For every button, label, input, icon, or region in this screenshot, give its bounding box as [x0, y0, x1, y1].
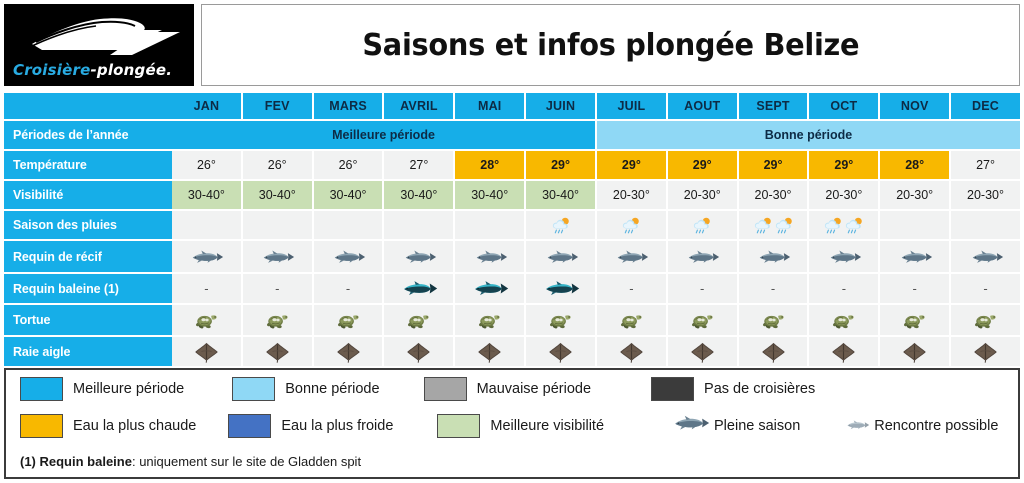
eagle-ray-icon — [902, 341, 927, 363]
rain-cloud-icon — [551, 216, 571, 235]
absent-mark: - — [842, 286, 846, 292]
month-header-aout: AOUT — [668, 93, 737, 119]
whale-shark-cell-juil: - — [597, 274, 666, 303]
row-label-reef-shark: Requin de récif — [4, 241, 172, 272]
temperature-cell-avril: 27° — [384, 151, 453, 179]
whale-shark-cell-mai — [455, 274, 524, 303]
shark-icon — [472, 250, 508, 264]
legend-item: Mauvaise période — [424, 377, 591, 401]
legend-row-1: Meilleure périodeBonne périodeMauvaise p… — [6, 370, 1018, 407]
whale-shark-cell-avril — [384, 274, 453, 303]
whale-shark-cell-sept: - — [739, 274, 808, 303]
whale-shark-cell-aout: - — [668, 274, 737, 303]
eagle-ray-cell-fev — [243, 337, 312, 366]
rain-cloud-icon — [844, 216, 864, 235]
eagle-ray-icon — [477, 341, 502, 363]
visibility-cell-jan: 30-40° — [172, 181, 241, 209]
row-label-rain: Saison des pluies — [4, 211, 172, 239]
absent-mark: - — [771, 286, 775, 292]
shark-icon — [401, 250, 437, 264]
rain-cell-jan — [172, 211, 241, 239]
whale-shark-cells: --- ------ — [172, 274, 1020, 303]
rain-cells — [172, 211, 1020, 239]
eagle-ray-icon — [973, 341, 998, 363]
month-header-oct: OCT — [809, 93, 878, 119]
month-header-jan: JAN — [172, 93, 241, 119]
month-header-mars: MARS — [314, 93, 383, 119]
turtle-icon — [691, 311, 714, 330]
eagle-ray-icon — [831, 341, 856, 363]
visibility-cell-avril: 30-40° — [384, 181, 453, 209]
row-label-visibility: Visibilité — [4, 181, 172, 209]
legend-item: Eau la plus froide — [228, 414, 393, 438]
rain-cloud-icon — [692, 216, 712, 235]
turtle-cell-sept — [739, 305, 808, 335]
turtle-cell-mars — [314, 305, 383, 335]
rain-cell-avril — [384, 211, 453, 239]
legend-item: Eau la plus chaude — [20, 414, 196, 438]
reef-shark-cell-dec — [951, 241, 1020, 272]
month-header-juil: JUIL — [597, 93, 666, 119]
rain-cloud-icon — [774, 216, 794, 235]
eagle-ray-icon — [619, 341, 644, 363]
swatch-warmest-water — [20, 414, 63, 438]
swatch-best-visibility — [437, 414, 480, 438]
legend: Meilleure périodeBonne périodeMauvaise p… — [4, 368, 1020, 479]
month-header-mai: MAI — [455, 93, 524, 119]
reef-shark-cells — [172, 241, 1020, 272]
legend-row-2: Eau la plus chaudeEau la plus froideMeil… — [6, 407, 1018, 444]
reef-shark-cell-juil — [597, 241, 666, 272]
shark-icon — [259, 250, 295, 264]
absent-mark: - — [629, 286, 633, 292]
title-box: Saisons et infos plongée Belize — [201, 4, 1020, 86]
visibility-cell-mars: 30-40° — [314, 181, 383, 209]
month-header-juin: JUIN — [526, 93, 595, 119]
legend-label: Eau la plus chaude — [73, 418, 196, 434]
shark-icon — [670, 415, 710, 431]
table-row-periods: Périodes de l’année Meilleure périodeBon… — [4, 121, 1020, 149]
turtle-cell-avril — [384, 305, 453, 335]
table-row-turtle: Tortue — [4, 305, 1020, 335]
whale-shark-icon — [471, 281, 509, 296]
turtle-icon — [337, 311, 360, 330]
legend-label: Meilleure visibilité — [490, 418, 604, 434]
rain-cell-sept — [739, 211, 808, 239]
turtle-icon — [903, 311, 926, 330]
month-header-nov: NOV — [880, 93, 949, 119]
table-row-reef-shark: Requin de récif — [4, 241, 1020, 272]
row-label-periods: Périodes de l’année — [4, 121, 172, 149]
eagle-ray-cells — [172, 337, 1020, 366]
infographic-page: Croisière-plongée. Saisons et infos plon… — [0, 0, 1024, 483]
visibility-cell-juin: 30-40° — [526, 181, 595, 209]
row-label-temperature: Température — [4, 151, 172, 179]
legend-item: Meilleure visibilité — [437, 414, 604, 438]
absent-mark: - — [700, 286, 704, 292]
eagle-ray-icon — [265, 341, 290, 363]
whale-shark-cell-fev: - — [243, 274, 312, 303]
eagle-ray-cell-mars — [314, 337, 383, 366]
eagle-ray-icon — [761, 341, 786, 363]
temperature-cell-oct: 29° — [809, 151, 878, 179]
absent-mark: - — [346, 286, 350, 292]
shark-icon — [755, 250, 791, 264]
visibility-cell-fev: 30-40° — [243, 181, 312, 209]
eagle-ray-cell-aout — [668, 337, 737, 366]
turtle-icon — [478, 311, 501, 330]
table-row-rain: Saison des pluies — [4, 211, 1020, 239]
turtle-cell-nov — [880, 305, 949, 335]
legend-item: Bonne période — [232, 377, 379, 401]
temperature-cell-juin: 29° — [526, 151, 595, 179]
shark-icon — [330, 250, 366, 264]
page-title: Saisons et infos plongée Belize — [362, 28, 859, 63]
reef-shark-cell-sept — [739, 241, 808, 272]
reef-shark-cell-fev — [243, 241, 312, 272]
period-span-best: Meilleure période — [172, 121, 595, 149]
rain-cell-juin — [526, 211, 595, 239]
month-header-sept: SEPT — [739, 93, 808, 119]
eagle-ray-cell-jan — [172, 337, 241, 366]
footnote-bold: (1) Requin baleine — [20, 454, 132, 469]
temperature-cell-mai: 28° — [455, 151, 524, 179]
period-span-good: Bonne période — [597, 121, 1020, 149]
whale-shark-cell-jan: - — [172, 274, 241, 303]
visibility-cells: 30-40°30-40°30-40°30-40°30-40°30-40°20-3… — [172, 181, 1020, 209]
eagle-ray-icon — [336, 341, 361, 363]
visibility-cell-juil: 20-30° — [597, 181, 666, 209]
shark-icon — [543, 250, 579, 264]
month-header-fev: FEV — [243, 93, 312, 119]
shark-icon — [684, 250, 720, 264]
absent-mark: - — [275, 286, 279, 292]
legend-label: Pas de croisières — [704, 381, 815, 397]
eagle-ray-cell-mai — [455, 337, 524, 366]
temperature-cell-nov: 28° — [880, 151, 949, 179]
reef-shark-cell-aout — [668, 241, 737, 272]
legend-footnote: (1) Requin baleine : uniquement sur le s… — [6, 444, 1018, 478]
rain-cell-oct — [809, 211, 878, 239]
turtle-cell-fev — [243, 305, 312, 335]
swatch-coldest-water — [228, 414, 271, 438]
shark-icon — [613, 250, 649, 264]
shark-icon — [826, 250, 862, 264]
row-label-eagle-ray: Raie aigle — [4, 337, 172, 366]
eagle-ray-cell-nov — [880, 337, 949, 366]
shark-icon — [844, 420, 870, 430]
visibility-cell-dec: 20-30° — [951, 181, 1020, 209]
rain-cell-nov — [880, 211, 949, 239]
legend-label: Eau la plus froide — [281, 418, 393, 434]
rain-cell-fev — [243, 211, 312, 239]
eagle-ray-cell-sept — [739, 337, 808, 366]
turtle-icon — [266, 311, 289, 330]
table-row-eagle-ray: Raie aigle — [4, 337, 1020, 366]
swatch-no-cruises — [651, 377, 694, 401]
turtle-cell-oct — [809, 305, 878, 335]
visibility-cell-mai: 30-40° — [455, 181, 524, 209]
legend-label: Mauvaise période — [477, 381, 591, 397]
eagle-ray-cell-oct — [809, 337, 878, 366]
reef-shark-cell-jan — [172, 241, 241, 272]
footnote-rest: : uniquement sur le site de Gladden spit — [132, 454, 361, 469]
absent-mark: - — [913, 286, 917, 292]
reef-shark-cell-oct — [809, 241, 878, 272]
reef-shark-cell-avril — [384, 241, 453, 272]
swatch-bad-period — [424, 377, 467, 401]
whale-shark-icon — [400, 281, 438, 296]
shark-icon-small — [844, 417, 870, 435]
legend-item: Meilleure période — [20, 377, 184, 401]
table-row-visibility: Visibilité 30-40°30-40°30-40°30-40°30-40… — [4, 181, 1020, 209]
rain-cell-mai — [455, 211, 524, 239]
visibility-cell-aout: 20-30° — [668, 181, 737, 209]
turtle-icon — [549, 311, 572, 330]
temperature-cells: 26°26°26°27°28°29°29°29°29°29°28°27° — [172, 151, 1020, 179]
header-corner — [4, 93, 172, 119]
whale-shark-cell-oct: - — [809, 274, 878, 303]
logo-wordmark: Croisière-plongée. — [13, 61, 172, 79]
seasons-table: JANFEVMARSAVRILMAIJUINJUILAOUTSEPTOCTNOV… — [4, 93, 1020, 366]
rain-cloud-icon — [753, 216, 773, 235]
turtle-icon — [195, 311, 218, 330]
eagle-ray-cell-juil — [597, 337, 666, 366]
temperature-cell-juil: 29° — [597, 151, 666, 179]
legend-icon-item: Pleine saison — [670, 415, 800, 436]
eagle-ray-cell-dec — [951, 337, 1020, 366]
swatch-best-period — [20, 377, 63, 401]
temperature-cell-dec: 27° — [951, 151, 1020, 179]
table-header-row: JANFEVMARSAVRILMAIJUINJUILAOUTSEPTOCTNOV… — [4, 93, 1020, 119]
temperature-cell-aout: 29° — [668, 151, 737, 179]
legend-label: Pleine saison — [714, 418, 800, 434]
rain-cell-mars — [314, 211, 383, 239]
month-header-dec: DEC — [951, 93, 1020, 119]
shark-icon-large — [670, 415, 710, 436]
rain-cloud-icon — [823, 216, 843, 235]
turtle-icon — [762, 311, 785, 330]
visibility-cell-nov: 20-30° — [880, 181, 949, 209]
logo-text-croisiere: Croisière — [13, 61, 90, 79]
temperature-cell-jan: 26° — [172, 151, 241, 179]
legend-label: Bonne période — [285, 381, 379, 397]
whale-shark-cell-dec: - — [951, 274, 1020, 303]
turtle-cell-aout — [668, 305, 737, 335]
legend-label: Meilleure période — [73, 381, 184, 397]
eagle-ray-icon — [548, 341, 573, 363]
turtle-cell-jan — [172, 305, 241, 335]
boat-icon — [12, 10, 188, 58]
legend-icon-item: Rencontre possible — [844, 417, 998, 435]
whale-shark-cell-nov: - — [880, 274, 949, 303]
shark-icon — [188, 250, 224, 264]
legend-label: Rencontre possible — [874, 418, 998, 434]
reef-shark-cell-nov — [880, 241, 949, 272]
temperature-cell-mars: 26° — [314, 151, 383, 179]
turtle-icon — [832, 311, 855, 330]
reef-shark-cell-mars — [314, 241, 383, 272]
rain-cloud-icon — [621, 216, 641, 235]
table-row-whale-shark: Requin baleine (1) --- ------ — [4, 274, 1020, 303]
table-row-temperature: Température 26°26°26°27°28°29°29°29°29°2… — [4, 151, 1020, 179]
reef-shark-cell-juin — [526, 241, 595, 272]
rain-cell-aout — [668, 211, 737, 239]
eagle-ray-icon — [690, 341, 715, 363]
temperature-cell-sept: 29° — [739, 151, 808, 179]
row-label-whale-shark: Requin baleine (1) — [4, 274, 172, 303]
turtle-cells — [172, 305, 1020, 335]
row-label-turtle: Tortue — [4, 305, 172, 335]
logo-text-plongee: -plongée. — [90, 61, 172, 79]
whale-shark-cell-mars: - — [314, 274, 383, 303]
legend-item: Pas de croisières — [651, 377, 815, 401]
turtle-icon — [620, 311, 643, 330]
month-header-cells: JANFEVMARSAVRILMAIJUINJUILAOUTSEPTOCTNOV… — [172, 93, 1020, 119]
header: Croisière-plongée. Saisons et infos plon… — [0, 0, 1024, 88]
eagle-ray-icon — [194, 341, 219, 363]
shark-icon — [897, 250, 933, 264]
absent-mark: - — [204, 286, 208, 292]
eagle-ray-icon — [406, 341, 431, 363]
turtle-cell-juil — [597, 305, 666, 335]
month-header-avril: AVRIL — [384, 93, 453, 119]
absent-mark: - — [983, 286, 987, 292]
shark-icon — [968, 250, 1004, 264]
rain-cell-juil — [597, 211, 666, 239]
eagle-ray-cell-juin — [526, 337, 595, 366]
visibility-cell-oct: 20-30° — [809, 181, 878, 209]
logo-box: Croisière-plongée. — [4, 4, 194, 86]
reef-shark-cell-mai — [455, 241, 524, 272]
turtle-icon — [974, 311, 997, 330]
turtle-cell-mai — [455, 305, 524, 335]
rain-cell-dec — [951, 211, 1020, 239]
whale-shark-icon — [542, 281, 580, 296]
temperature-cell-fev: 26° — [243, 151, 312, 179]
turtle-cell-dec — [951, 305, 1020, 335]
visibility-cell-sept: 20-30° — [739, 181, 808, 209]
swatch-good-period — [232, 377, 275, 401]
turtle-icon — [407, 311, 430, 330]
period-span-cells: Meilleure périodeBonne période — [172, 121, 1020, 149]
turtle-cell-juin — [526, 305, 595, 335]
whale-shark-cell-juin — [526, 274, 595, 303]
eagle-ray-cell-avril — [384, 337, 453, 366]
